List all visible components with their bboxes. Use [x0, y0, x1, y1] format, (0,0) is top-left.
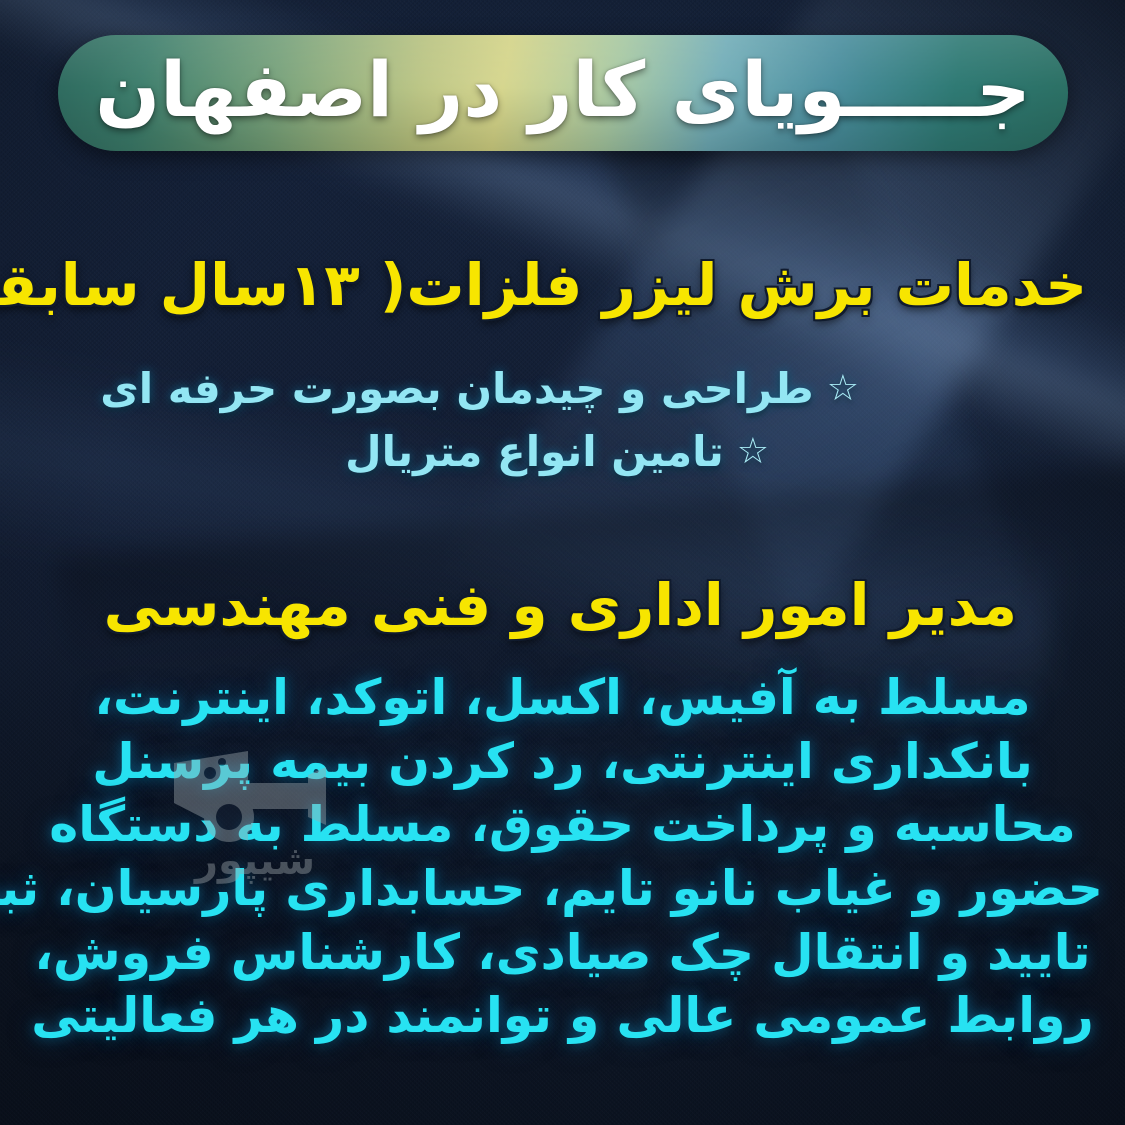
position-heading: مدیر امور اداری و فنی مهندسی — [104, 575, 1017, 636]
qualification-line: محاسبه و پرداخت حقوق، مسلط به دستگاه — [22, 793, 1103, 857]
qualifications-text: مسلط به آفیس، اکسل، اتوکد، اینترنت، بانک… — [22, 666, 1103, 1048]
list-item: ☆ تامین انواع متریال — [38, 420, 1087, 483]
qualification-line: روابط عمومی عالی و توانمند در هر فعالیتی — [22, 984, 1103, 1048]
star-icon: ☆ — [737, 434, 769, 470]
qualification-line: مسلط به آفیس، اکسل، اتوکد، اینترنت، — [22, 666, 1103, 730]
qualification-line: تایید و انتقال چک صیادی، کارشناس فروش، — [22, 921, 1103, 985]
banner-title: جـــــویای کار در اصفهان — [58, 35, 1068, 151]
poster-content: خدمات برش لیزر فلزات( ۱۳سال سابقه) ☆ طرا… — [0, 150, 1125, 1125]
qualification-line: حضور و غیاب نانو تایم، حسابداری پارسیان،… — [22, 857, 1103, 921]
star-icon: ☆ — [827, 371, 859, 407]
header-banner: جـــــویای کار در اصفهان — [58, 35, 1068, 151]
service-heading: خدمات برش لیزر فلزات( ۱۳سال سابقه) — [0, 255, 1087, 316]
list-item: ☆ طراحی و چیدمان بصورت حرفه ای — [38, 357, 1087, 420]
qualification-line: بانکداری اینترنتی، رد کردن بیمه پرسنل — [22, 730, 1103, 794]
list-item-label: طراحی و چیدمان بصورت حرفه ای — [100, 357, 814, 420]
poster-root: جـــــویای کار در اصفهان خدمات برش لیزر … — [0, 0, 1125, 1125]
service-bullet-list: ☆ طراحی و چیدمان بصورت حرفه ای ☆ تامین ا… — [38, 357, 1087, 483]
list-item-label: تامین انواع متریال — [345, 420, 724, 483]
